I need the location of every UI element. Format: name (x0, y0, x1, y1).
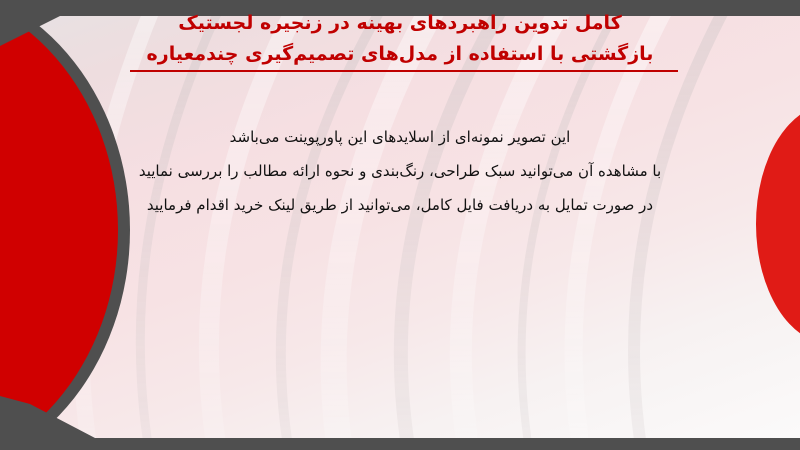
presentation-slide: کامل تدوین راهبردهای بهینه در زنجیره لجس… (0, 0, 800, 450)
slide-panel (0, 6, 800, 438)
